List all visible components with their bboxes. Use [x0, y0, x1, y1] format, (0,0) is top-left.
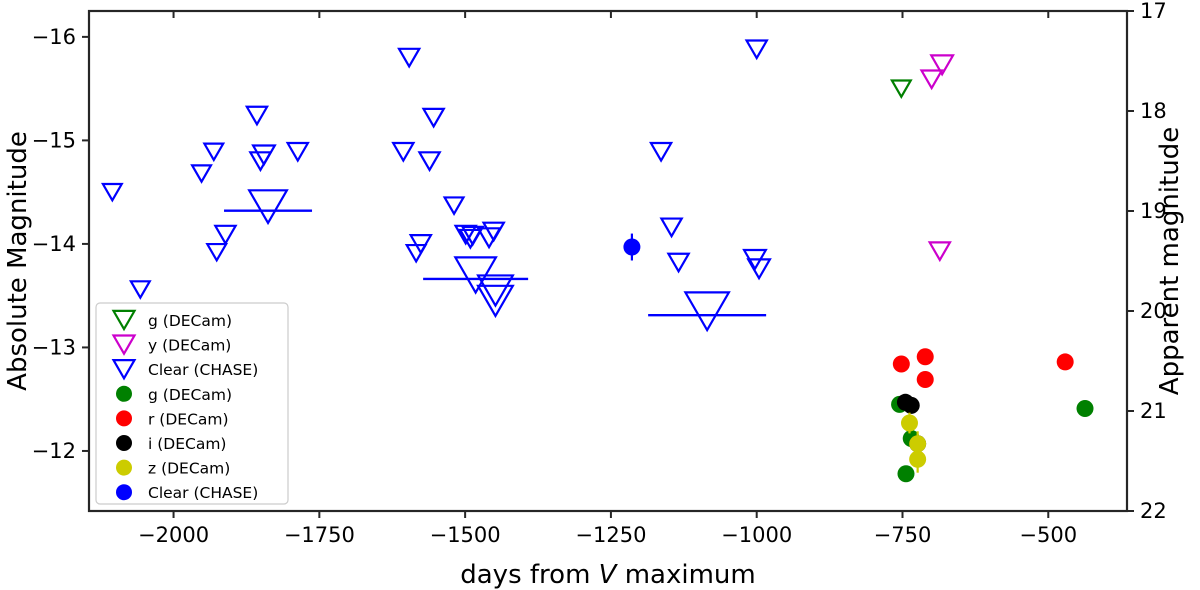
svg-text:−15: −15 [32, 128, 76, 152]
svg-text:−14: −14 [32, 232, 76, 256]
data-point [909, 451, 926, 468]
svg-text:−750: −750 [874, 523, 932, 547]
data-point [1057, 353, 1074, 370]
data-point [897, 465, 914, 482]
data-point [893, 356, 910, 373]
svg-text:21: 21 [1140, 399, 1167, 423]
chart-legend: g (DECam)y (DECam)Clear (CHASE)g (DECam)… [96, 303, 288, 504]
legend-label: g (DECam) [148, 386, 232, 404]
svg-text:22: 22 [1140, 499, 1167, 523]
legend-marker [116, 410, 132, 426]
svg-text:−1000: −1000 [721, 523, 792, 547]
data-point [917, 371, 934, 388]
scatter-plot: −2000−1750−1500−1250−1000−750−500 −16−15… [0, 0, 1200, 590]
svg-text:18: 18 [1140, 99, 1167, 123]
legend-marker [116, 484, 132, 500]
data-point [623, 239, 640, 256]
legend-label: i (DECam) [148, 435, 226, 453]
legend-marker [116, 435, 132, 451]
svg-text:−16: −16 [32, 25, 76, 49]
svg-text:−1250: −1250 [575, 523, 646, 547]
legend-label: y (DECam) [148, 337, 231, 355]
legend-marker [116, 386, 132, 402]
svg-text:−500: −500 [1019, 523, 1077, 547]
svg-text:−2000: −2000 [138, 523, 209, 547]
svg-text:−12: −12 [32, 439, 76, 463]
data-point [901, 415, 918, 432]
x-axis-title: days from V maximum [460, 560, 755, 590]
svg-text:17: 17 [1140, 0, 1167, 23]
legend-label: z (DECam) [148, 460, 230, 478]
svg-text:−1750: −1750 [284, 523, 355, 547]
data-point [903, 397, 920, 414]
y-axis-left-title: Absolute Magnitude [3, 131, 33, 391]
legend-label: Clear (CHASE) [148, 361, 258, 379]
legend-label: g (DECam) [148, 312, 232, 330]
y-axis-right-title: Apparent magnitude [1155, 127, 1185, 395]
data-point [1077, 400, 1094, 417]
svg-text:−1500: −1500 [430, 523, 501, 547]
legend-marker [116, 460, 132, 476]
legend-label: r (DECam) [148, 410, 229, 428]
data-point [917, 348, 934, 365]
svg-text:−13: −13 [32, 335, 76, 359]
legend-label: Clear (CHASE) [148, 484, 258, 502]
chart-page: −2000−1750−1500−1250−1000−750−500 −16−15… [0, 0, 1200, 590]
